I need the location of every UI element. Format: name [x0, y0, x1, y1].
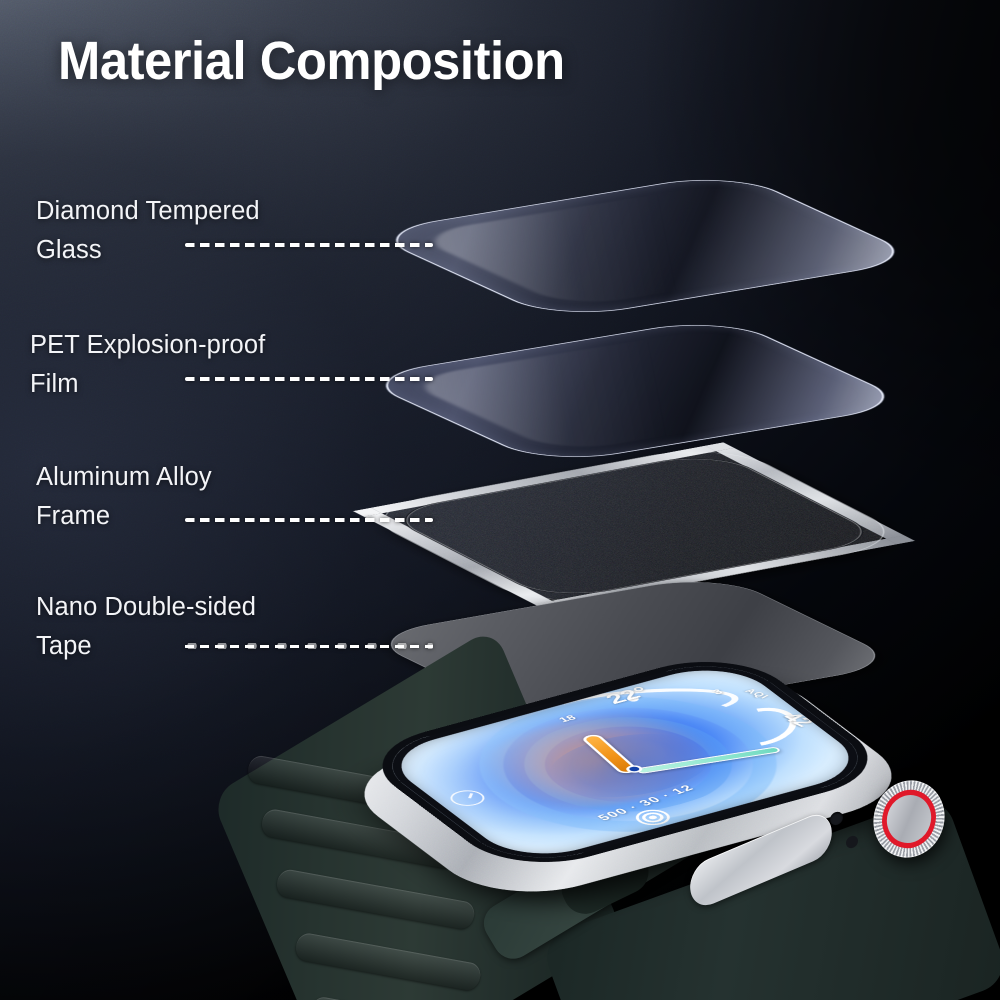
infographic-canvas: 18 22° 3 AQI 42 500 · 30 · 12 Material C… — [0, 0, 1000, 1000]
smartwatch: 18 22° 3 AQI 42 500 · 30 · 12 — [0, 0, 1000, 1000]
leader-line-diamond-tempered-glass — [185, 243, 433, 247]
page-title: Material Composition — [58, 30, 565, 92]
microphone-hole — [830, 811, 843, 826]
leader-line-nano-double-sided-tape — [185, 643, 433, 649]
leader-line-pet-explosion-proof-film — [185, 377, 433, 381]
leader-line-aluminum-alloy-frame — [185, 518, 433, 522]
